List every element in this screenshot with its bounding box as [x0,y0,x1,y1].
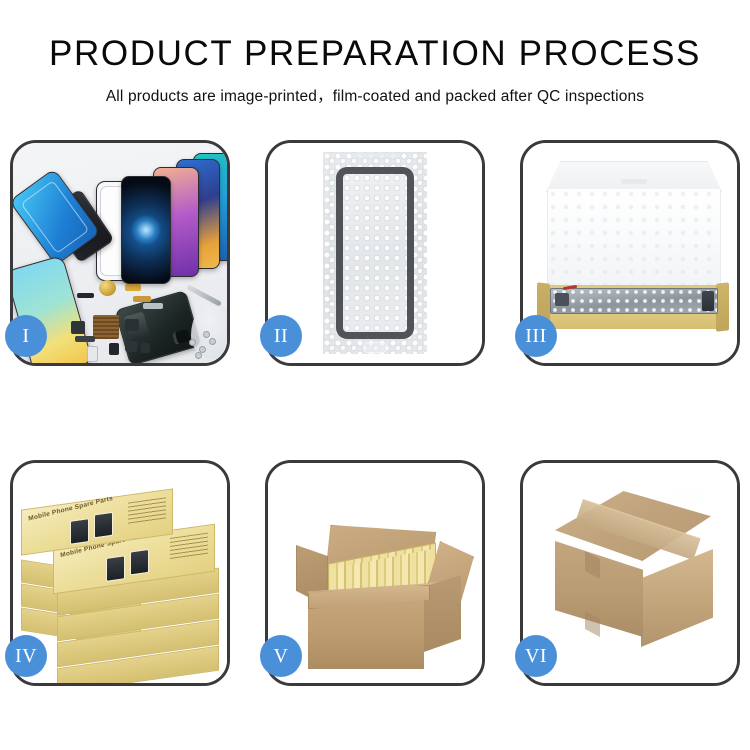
part-vibrator-motor [125,319,139,331]
part-connector-strip [77,293,94,298]
box-lid-tab [621,179,647,184]
part-speaker-coil [99,280,116,296]
part-flex-cable-a [125,284,141,291]
wrapped-screen-glass [336,167,414,339]
part-battery-connector [87,346,98,362]
process-step-grid: I II III [0,140,750,700]
process-step-panel-5[interactable]: V [265,460,485,686]
process-step-panel-6[interactable]: VI [520,460,740,686]
kraft-inner-box [541,285,725,329]
box-art-phone-right [130,549,149,576]
box-spec-lines [128,497,166,524]
process-step-panel-3[interactable]: III [520,140,740,366]
box-art-phone-left [70,518,89,545]
foam-liner [547,189,721,287]
wrapped-part-in-box [550,288,718,314]
step-badge-1: I [5,315,47,357]
tweezers-tool-icon [186,284,222,306]
box-art-phone-right [94,512,113,539]
box-spec-lines [170,533,208,560]
sealed-carton-right-panel [641,549,713,647]
part-metal-bracket [143,303,163,309]
process-step-panel-2[interactable]: II [265,140,485,366]
box-lid-back [546,161,722,192]
process-step-panel-4[interactable]: Mobile Phone Spare Parts Mobile Phone Sp… [10,460,230,686]
part-flex-cable-b [133,296,151,302]
step-badge-3: III [515,315,557,357]
part-camera-module [71,321,85,334]
screw-icon [203,331,210,338]
part-small-ic [141,343,150,353]
process-step-panel-1[interactable]: I [10,140,230,366]
box-art-phone-left [106,555,125,582]
part-antenna-strip [75,336,95,342]
phone-device-blue-wallpaper [121,176,171,284]
step-badge-4: IV [5,635,47,677]
page-subtitle: All products are image-printed，film-coat… [0,84,750,106]
step-badge-6: VI [515,635,557,677]
screw-icon [189,339,196,346]
step-badge-5: V [260,635,302,677]
part-sim-tray [109,343,119,355]
part-logic-board [93,315,119,339]
page-header: PRODUCT PREPARATION PROCESS All products… [0,0,750,106]
step-badge-2: II [260,315,302,357]
earpiece-slot [351,154,399,158]
screw-icon [209,338,216,345]
page-title: PRODUCT PREPARATION PROCESS [0,36,750,73]
screw-icon [195,352,202,359]
hand-silhouette [191,303,227,359]
part-buzzer [125,341,137,352]
